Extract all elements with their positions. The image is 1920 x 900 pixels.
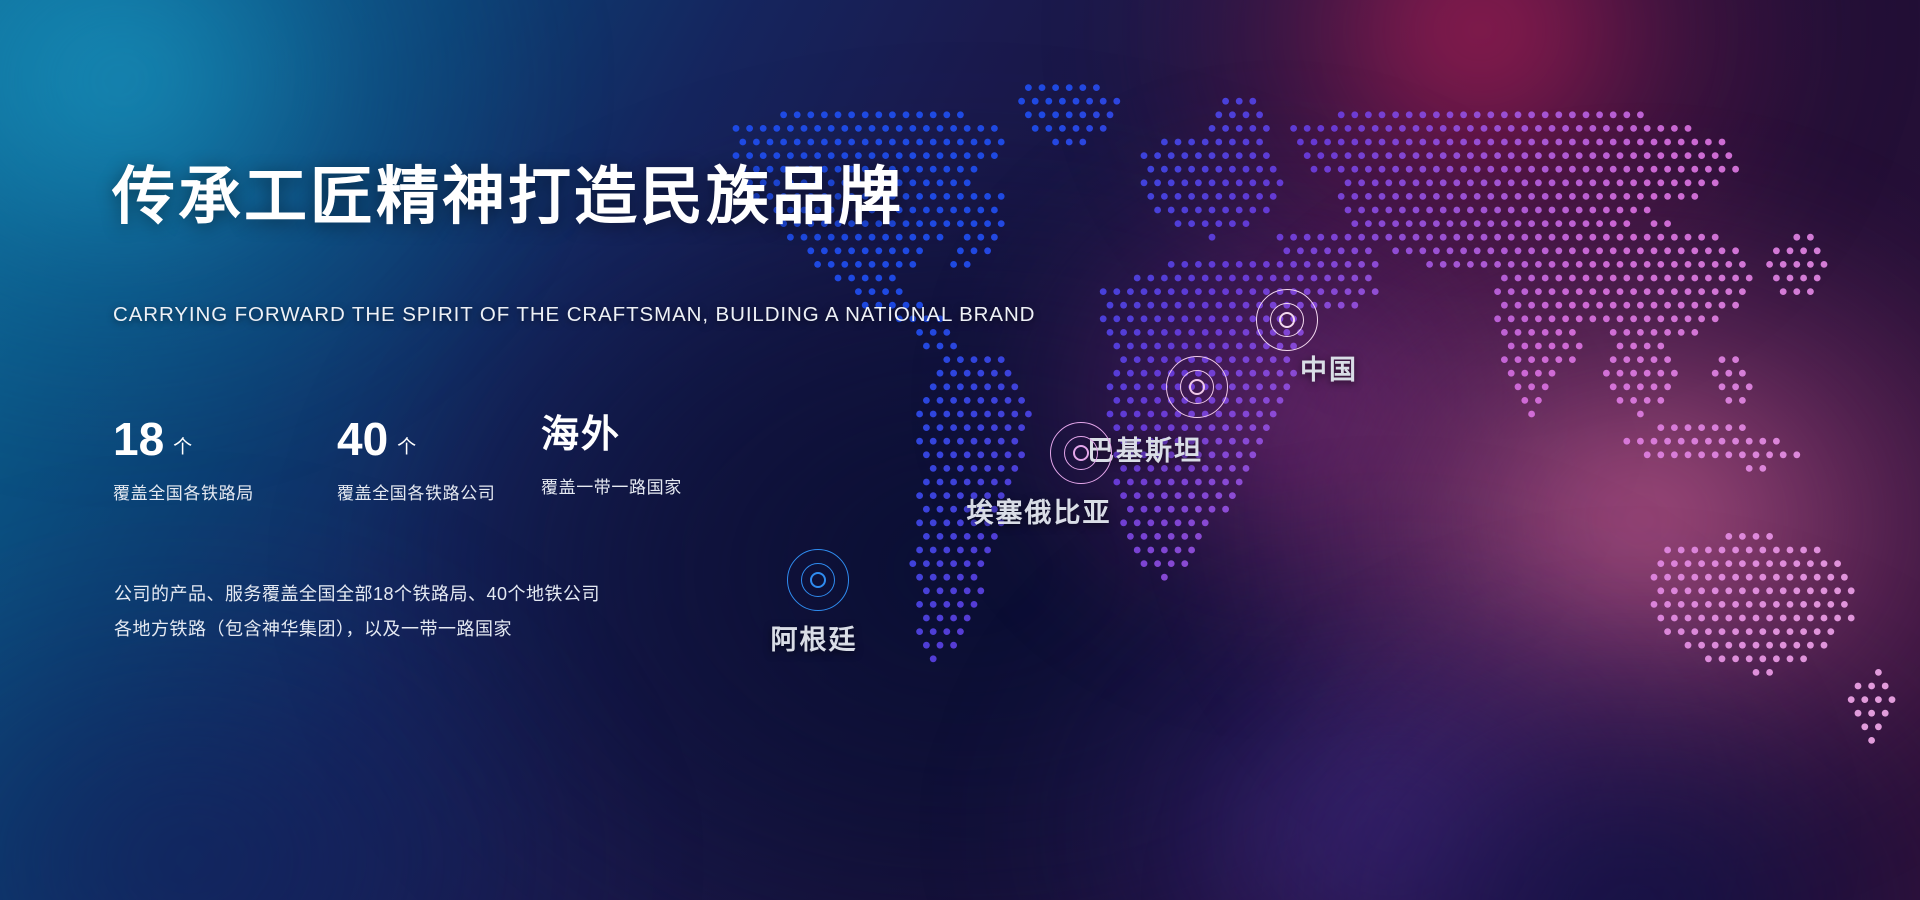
stat-value: 18 <box>113 416 164 462</box>
page-title: 传承工匠精神打造民族品牌 <box>112 166 904 229</box>
map-marker-label: 中国 <box>1300 348 1358 387</box>
stat-value: 海外 <box>541 416 621 456</box>
stat-value: 40 <box>337 416 388 462</box>
marker-ring-inner <box>1189 379 1205 395</box>
page-subtitle: CARRYING FORWARD THE SPIRIT OF THE CRAFT… <box>113 303 1035 327</box>
stat-item-railway-bureaus: 18 个 覆盖全国各铁路局 <box>113 416 337 504</box>
paragraph-line-1: 公司的产品、服务覆盖全国全部18个铁路局、40个地铁公司 <box>114 577 600 612</box>
marker-ring-inner <box>1279 312 1295 328</box>
stat-description: 覆盖全国各铁路局 <box>113 479 337 504</box>
stat-unit: 个 <box>397 438 416 462</box>
stats-row: 18 个 覆盖全国各铁路局 40 个 覆盖全国各铁路公司 海外 覆盖一带一路国家 <box>113 416 741 504</box>
marker-ring-inner <box>810 572 826 588</box>
marker-ring-inner <box>1073 445 1089 461</box>
stat-item-railway-companies: 40 个 覆盖全国各铁路公司 <box>337 416 541 504</box>
stat-value-group: 海外 <box>541 416 741 456</box>
map-marker-label: 埃塞俄比亚 <box>967 491 1112 530</box>
stat-description: 覆盖全国各铁路公司 <box>337 479 541 504</box>
stat-unit: 个 <box>173 438 192 462</box>
banner-stage: 中国巴基斯坦埃塞俄比亚阿根廷 传承工匠精神打造民族品牌 CARRYING FOR… <box>0 0 1920 900</box>
map-marker-label: 阿根廷 <box>771 618 858 657</box>
stat-item-overseas: 海外 覆盖一带一路国家 <box>541 416 741 504</box>
description-paragraph: 公司的产品、服务覆盖全国全部18个铁路局、40个地铁公司 各地方铁路（包含神华集… <box>114 577 600 647</box>
paragraph-line-2: 各地方铁路（包含神华集团），以及一带一路国家 <box>114 612 600 647</box>
stat-value-group: 40 个 <box>337 416 541 462</box>
stat-description: 覆盖一带一路国家 <box>541 473 741 498</box>
stat-value-group: 18 个 <box>113 416 337 462</box>
